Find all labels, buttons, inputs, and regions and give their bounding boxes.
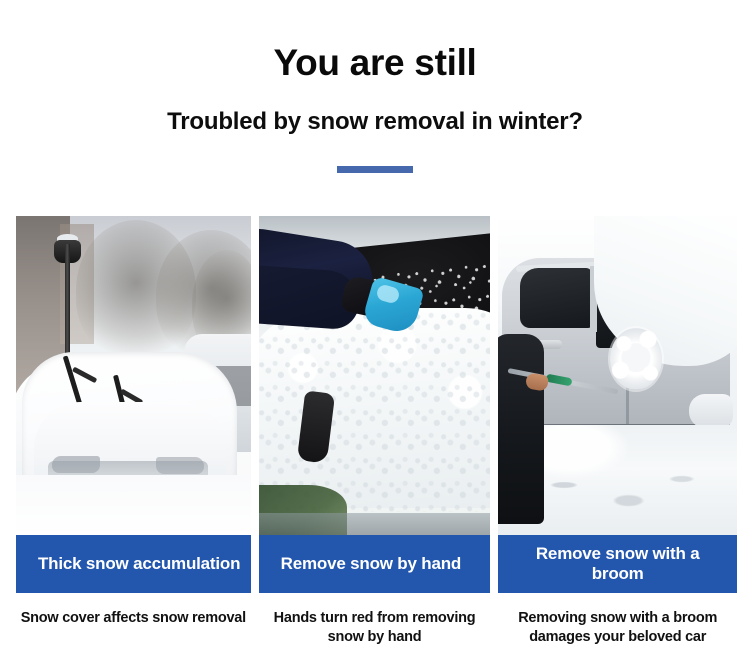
accent-divider <box>337 166 413 173</box>
caption-bar-remove-with-broom: Remove snow with a broom <box>498 535 737 593</box>
panel-remove-snow-by-hand[interactable]: Remove snow by hand <box>259 216 491 593</box>
panel-thick-snow-accumulation[interactable]: Yu LLR007 Thick snow accumulation <box>16 216 251 593</box>
subcaption-remove-by-hand: Hands turn red from removing snow by han… <box>259 609 491 647</box>
caption-label: Remove snow by hand <box>281 554 461 574</box>
subcaption-thick-snow: Snow cover affects snow removal <box>16 609 251 647</box>
front-door-window <box>520 268 592 328</box>
broom-snow-removal-photo <box>498 216 737 535</box>
header-section: You are still Troubled by snow removal i… <box>0 0 750 173</box>
foreground-strip <box>259 513 491 535</box>
caption-bar-thick-snow: Thick snow accumulation <box>16 535 251 593</box>
broom-bristles <box>606 324 666 394</box>
caption-label: Remove snow with a broom <box>510 544 725 584</box>
person-silhouette <box>498 334 544 524</box>
caption-label: Thick snow accumulation <box>38 554 240 574</box>
page-title: You are still <box>0 44 750 83</box>
side-mirror <box>689 394 733 428</box>
divider-wrapper <box>0 166 750 173</box>
snow-covered-car-photo: Yu LLR007 <box>16 216 251 535</box>
panel-grid: Yu LLR007 Thick snow accumulation Remove… <box>16 216 737 593</box>
page-subtitle: Troubled by snow removal in winter? <box>0 109 750 135</box>
subcaption-row: Snow cover affects snow removal Hands tu… <box>16 609 737 647</box>
hand-scraping-windshield-photo <box>259 216 491 535</box>
panel-remove-snow-with-broom[interactable]: Remove snow with a broom <box>498 216 737 593</box>
snow-texture <box>259 312 491 512</box>
subcaption-remove-with-broom: Removing snow with a broom damages your … <box>498 609 737 647</box>
snow-ground <box>16 475 251 535</box>
caption-bar-remove-by-hand: Remove snow by hand <box>259 535 491 593</box>
footprint-tracks <box>526 461 716 521</box>
